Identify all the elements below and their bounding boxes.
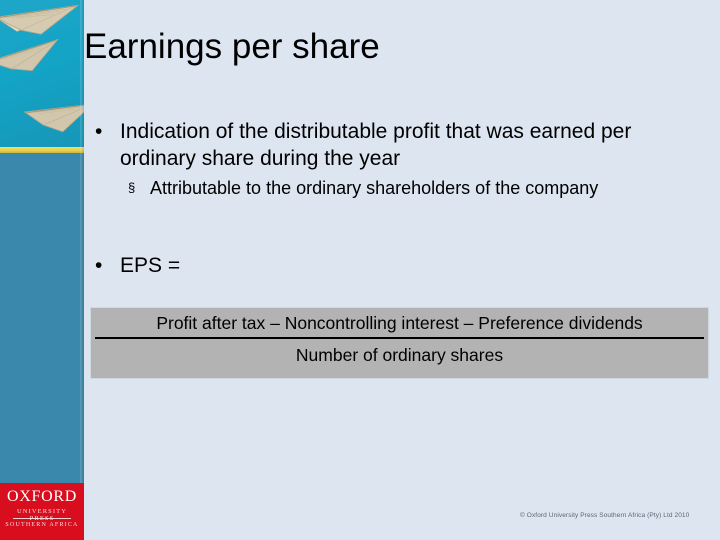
slide-body: • Indication of the distributable profit… [84,118,710,200]
formula-denominator: Number of ordinary shares [91,339,708,378]
bullet-item-level1: • Indication of the distributable profit… [84,118,710,173]
eps-formula-box: Profit after tax – Noncontrolling intere… [91,308,708,378]
formula-numerator: Profit after tax – Noncontrolling intere… [91,308,708,337]
bullet-item-level2: § Attributable to the ordinary sharehold… [84,177,710,200]
logo-subtitle-southern-africa: SOUTHERN AFRICA [5,522,79,528]
paper-plane-3-icon [21,90,84,142]
bullet-text: Attributable to the ordinary shareholder… [150,178,598,198]
logo-divider [13,518,71,519]
slide-title: Earnings per share [84,27,684,67]
bullet-marker-square: § [128,177,135,200]
bullet-item-eps: • EPS = [84,252,484,279]
bullet-marker-dot: • [95,118,102,145]
logo-wordmark: OXFORD [5,489,79,505]
footer-copyright-text: © Oxford University Press Southern Afric… [520,512,715,519]
logo-subtitle-university-press: UNIVERSITY PRESS [5,508,79,522]
sidebar-bottom-panel [0,153,84,483]
eps-label: EPS = [120,254,180,277]
sidebar-edge-shadow [80,0,84,483]
eps-label-row: • EPS = [84,252,484,279]
bullet-marker-dot: • [95,252,102,279]
oxford-university-press-logo: OXFORD UNIVERSITY PRESS SOUTHERN AFRICA [0,483,84,540]
presentation-slide: OXFORD UNIVERSITY PRESS SOUTHERN AFRICA … [0,0,720,540]
sidebar-top-panel [0,0,84,147]
bullet-text: Indication of the distributable profit t… [120,120,631,170]
slide-sidebar [0,0,84,540]
